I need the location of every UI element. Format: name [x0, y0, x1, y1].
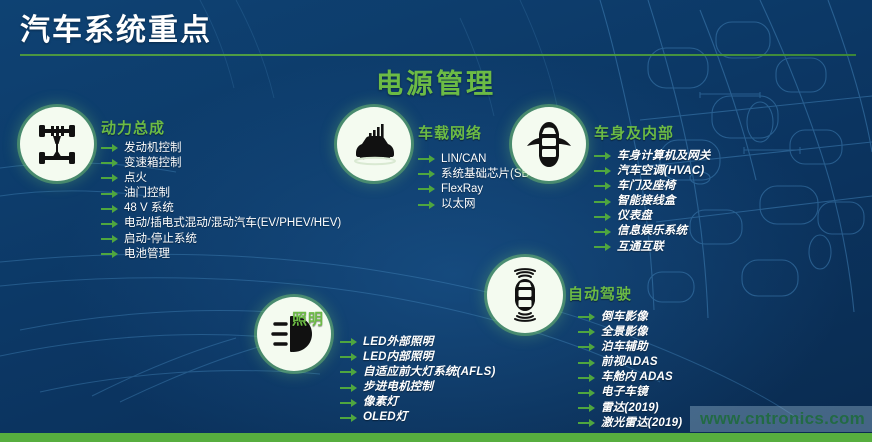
arrow-icon [101, 234, 119, 244]
list-item-label: OLED灯 [363, 410, 407, 425]
body-interior-body: 车身及内部 车身计算机及网关 汽车空调(HVAC) 车门及座椅 智能接线盒 仪表… [594, 122, 711, 255]
title-divider [20, 54, 856, 56]
list-item-label: 油门控制 [124, 186, 170, 201]
center-heading: 电源管理 [0, 62, 872, 101]
list-item-label: 48 V 系统 [124, 201, 174, 216]
arrow-icon [578, 358, 596, 368]
list-item-label: 发动机控制 [124, 141, 182, 156]
arrow-icon [101, 204, 119, 214]
list-item[interactable]: 启动-停止系统 [101, 232, 341, 247]
list-item-label: 电动/插电式混动/混动汽车(EV/PHEV/HEV) [124, 216, 341, 231]
car-radar-topview-icon [498, 268, 552, 322]
list-item-label: 车舱内 ADAS [601, 370, 673, 385]
arrow-icon [101, 143, 119, 153]
bottom-accent-bar [0, 433, 872, 442]
car-doors-open-icon [523, 118, 575, 170]
list-item[interactable]: 汽车空调(HVAC) [594, 164, 711, 179]
slide-header: 汽车系统重点 [0, 0, 872, 62]
list-item[interactable]: 前视ADAS [578, 355, 682, 370]
list-item-label: 电池管理 [124, 247, 170, 262]
arrow-icon [594, 227, 612, 237]
autonomous-driving-heading: 自动驾驶 [568, 283, 682, 304]
list-item-label: 像素灯 [363, 395, 398, 410]
arrow-icon [340, 398, 358, 408]
list-item-label: 智能接线盒 [617, 194, 676, 209]
list-item[interactable]: LED外部照明 [340, 335, 495, 350]
arrow-icon [101, 249, 119, 259]
list-item-label: 步进电机控制 [363, 380, 433, 395]
list-item[interactable]: 泊车辅助 [578, 340, 682, 355]
arrow-icon [594, 242, 612, 252]
list-item-label: LED内部照明 [363, 350, 433, 365]
list-item-label: 前视ADAS [601, 355, 658, 370]
list-item-label: 仪表盘 [617, 209, 652, 224]
arrow-icon [594, 197, 612, 207]
list-item-label: 以太网 [441, 197, 476, 212]
list-item-label: 全景影像 [601, 325, 648, 340]
arrow-icon [418, 154, 436, 164]
list-item-label: 信息娱乐系统 [617, 224, 687, 239]
list-item[interactable]: 智能接线盒 [594, 194, 711, 209]
list-item[interactable]: 倒车影像 [578, 310, 682, 325]
list-item-label: 点火 [124, 171, 147, 186]
lighting-heading: 照明 [292, 308, 495, 329]
arrow-icon [594, 212, 612, 222]
list-item-label: 泊车辅助 [601, 340, 648, 355]
chassis-drivetrain-icon [32, 119, 82, 169]
powertrain-list: 发动机控制 变速箱控制 点火 油门控制 48 V 系统 电动/插电式混动/混动汽… [101, 141, 341, 261]
arrow-icon [578, 312, 596, 322]
arrow-icon [340, 383, 358, 393]
list-item-label: 启动-停止系统 [124, 232, 197, 247]
list-item[interactable]: 电子车镜 [578, 385, 682, 400]
vehicle-network-icon-bubble[interactable] [337, 107, 411, 181]
list-item[interactable]: LED内部照明 [340, 350, 495, 365]
list-item[interactable]: FlexRay [418, 182, 541, 197]
list-item[interactable]: 自适应前大灯系统(AFLS) [340, 365, 495, 380]
arrow-icon [578, 342, 596, 352]
list-item-label: 汽车空调(HVAC) [617, 164, 704, 179]
list-item[interactable]: 以太网 [418, 197, 541, 212]
arrow-icon [578, 403, 596, 413]
arrow-icon [101, 219, 119, 229]
watermark-label: www.cntronics.com [700, 409, 865, 429]
list-item[interactable]: 雷达(2019) [578, 401, 682, 416]
list-item[interactable]: 步进电机控制 [340, 380, 495, 395]
list-item-label: 倒车影像 [601, 310, 648, 325]
list-item-label: LED外部照明 [363, 335, 433, 350]
arrow-icon [418, 169, 436, 179]
body-interior-icon-bubble[interactable] [512, 107, 586, 181]
list-item[interactable]: 变速箱控制 [101, 156, 341, 171]
powertrain-body: 动力总成 发动机控制 变速箱控制 点火 油门控制 48 V 系统 电动/插电式混… [101, 117, 341, 262]
car-signal-icon [348, 118, 400, 170]
arrow-icon [578, 373, 596, 383]
arrow-icon [101, 158, 119, 168]
autonomous-driving-body: 自动驾驶 倒车影像 全景影像 泊车辅助 前视ADAS 车舱内 ADAS 电子车镜… [568, 283, 682, 431]
powertrain-icon-bubble[interactable] [20, 107, 94, 181]
arrow-icon [594, 166, 612, 176]
list-item-label: 车门及座椅 [617, 179, 676, 194]
list-item-label: 车身计算机及网关 [617, 149, 711, 164]
arrow-icon [340, 337, 358, 347]
list-item[interactable]: 车舱内 ADAS [578, 370, 682, 385]
list-item[interactable]: 点火 [101, 171, 341, 186]
list-item[interactable]: 激光雷达(2019) [578, 416, 682, 431]
arrow-icon [101, 173, 119, 183]
body-interior-list: 车身计算机及网关 汽车空调(HVAC) 车门及座椅 智能接线盒 仪表盘 信息娱乐… [594, 149, 711, 254]
powertrain-heading: 动力总成 [101, 117, 341, 138]
arrow-icon [340, 352, 358, 362]
list-item-label: LIN/CAN [441, 152, 486, 167]
list-item[interactable]: 车门及座椅 [594, 179, 711, 194]
arrow-icon [578, 388, 596, 398]
list-item-label: 电子车镜 [601, 385, 648, 400]
arrow-icon [578, 327, 596, 337]
body-interior-heading: 车身及内部 [594, 122, 711, 143]
list-item-label: FlexRay [441, 182, 483, 197]
list-item[interactable]: 油门控制 [101, 186, 341, 201]
list-item[interactable]: 全景影像 [578, 325, 682, 340]
list-item[interactable]: OLED灯 [340, 410, 495, 425]
list-item-label: 自适应前大灯系统(AFLS) [363, 365, 495, 380]
arrow-icon [418, 184, 436, 194]
list-item[interactable]: 像素灯 [340, 395, 495, 410]
list-item[interactable]: 电池管理 [101, 247, 341, 262]
arrow-icon [340, 413, 358, 423]
list-item[interactable]: 车身计算机及网关 [594, 149, 711, 164]
lighting-list: LED外部照明 LED内部照明 自适应前大灯系统(AFLS) 步进电机控制 像素… [340, 335, 495, 425]
list-item[interactable]: 电动/插电式混动/混动汽车(EV/PHEV/HEV) [101, 216, 341, 231]
list-item[interactable]: 信息娱乐系统 [594, 224, 711, 239]
lighting-body: 照明 LED外部照明 LED内部照明 自适应前大灯系统(AFLS) 步进电机控制… [292, 308, 495, 426]
arrow-icon [594, 151, 612, 161]
list-item[interactable]: 48 V 系统 [101, 201, 341, 216]
list-item[interactable]: 仪表盘 [594, 209, 711, 224]
list-item[interactable]: 互通互联 [594, 240, 711, 255]
list-item-label: 激光雷达(2019) [601, 416, 682, 431]
arrow-icon [594, 181, 612, 191]
autonomous-driving-list: 倒车影像 全景影像 泊车辅助 前视ADAS 车舱内 ADAS 电子车镜 雷达(2… [578, 310, 682, 430]
list-item-label: 变速箱控制 [124, 156, 182, 171]
page-title: 汽车系统重点 [20, 5, 212, 49]
list-item-label: 互通互联 [617, 240, 664, 255]
autonomous-driving-icon-bubble[interactable] [487, 257, 563, 333]
slide-canvas: 汽车系统重点 电源管理 [0, 0, 872, 442]
arrow-icon [418, 200, 436, 210]
arrow-icon [101, 189, 119, 199]
arrow-icon [578, 418, 596, 428]
list-item[interactable]: 发动机控制 [101, 141, 341, 156]
arrow-icon [340, 367, 358, 377]
list-item-label: 雷达(2019) [601, 401, 659, 416]
